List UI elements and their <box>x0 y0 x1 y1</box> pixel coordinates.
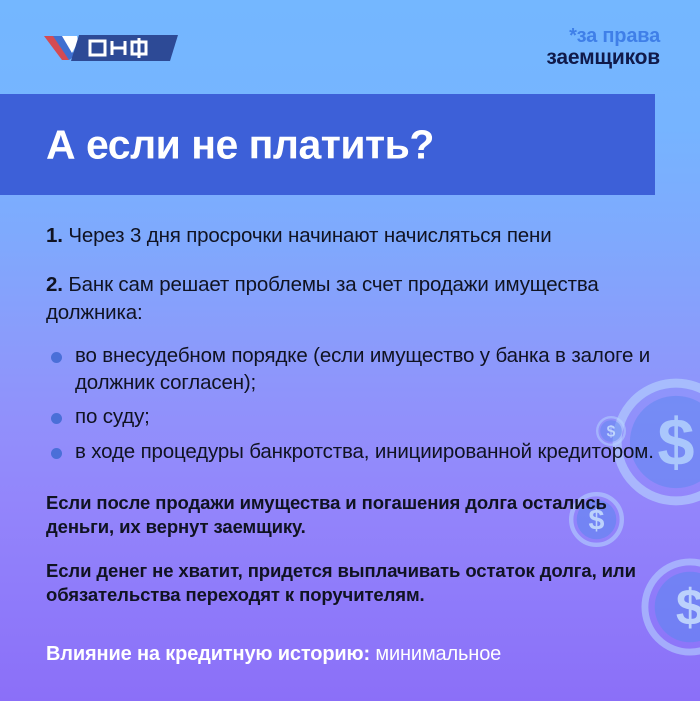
numbered-item-2-text: Банк сам решает проблемы за счет продажи… <box>46 273 599 323</box>
note-2: Если денег не хватит, придется выплачива… <box>0 539 700 607</box>
bullet-dot-icon <box>51 448 62 459</box>
list-item: по суду; <box>46 403 658 430</box>
bullet-dot-icon <box>51 352 62 363</box>
list-item: в ходе процедуры банкротства, инициирова… <box>46 438 658 465</box>
list-item-text: в ходе процедуры банкротства, инициирова… <box>75 440 654 463</box>
page-title: А если не платить? <box>46 121 434 168</box>
credit-history-impact-value: минимальное <box>375 643 501 665</box>
tagline-line-2: заемщиков <box>546 47 660 69</box>
list-item-text: по суду; <box>75 405 150 428</box>
bullet-list: во внесудебном порядке (если имущество у… <box>0 342 700 465</box>
credit-history-impact-label: Влияние на кредитную историю: <box>46 643 370 665</box>
note-1: Если после продажи имущества и погашения… <box>0 465 700 539</box>
tagline-line-1: *за права <box>546 26 660 47</box>
list-item-text: во внесудебном порядке (если имущество у… <box>75 344 650 394</box>
bullet-dot-icon <box>51 413 62 424</box>
title-banner: А если не платить? <box>0 94 655 195</box>
infographic-poster: $ $ $ $ <box>0 0 700 701</box>
numbered-item-2-number: 2. <box>46 273 63 296</box>
credit-history-impact: Влияние на кредитную историю: минимально… <box>0 607 700 667</box>
numbered-item-1-number: 1. <box>46 224 63 247</box>
header: *за права заемщиков <box>0 0 700 94</box>
list-item: во внесудебном порядке (если имущество у… <box>46 342 658 397</box>
numbered-item-1: 1. Через 3 дня просрочки начинают начисл… <box>0 195 700 249</box>
content-body: 1. Через 3 дня просрочки начинают начисл… <box>0 195 700 667</box>
tagline: *за права заемщиков <box>546 26 660 69</box>
numbered-item-2: 2. Банк сам решает проблемы за счет прод… <box>0 249 700 326</box>
onf-logo <box>42 29 182 67</box>
numbered-item-1-text: Через 3 дня просрочки начинают начислять… <box>68 224 551 247</box>
